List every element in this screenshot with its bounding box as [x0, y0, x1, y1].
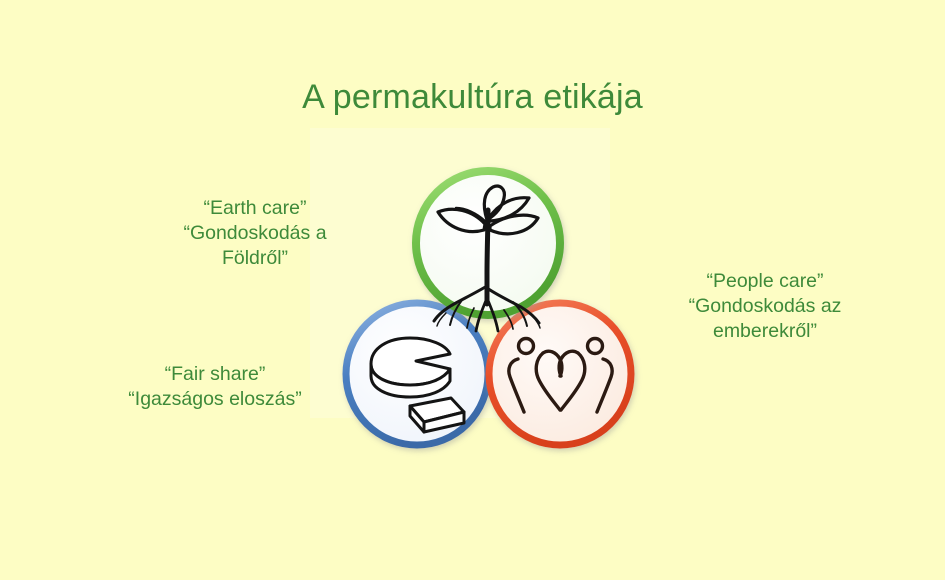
permaculture-ethics-venn-diagram: [338, 158, 644, 458]
label-people-care: “People care” “Gondoskodás az emberekről…: [625, 269, 905, 344]
slide-canvas: A permakultúra etikája “Earth care” “Gon…: [0, 0, 945, 580]
label-fair-share: “Fair share” “Igazságos eloszás”: [75, 362, 355, 412]
label-fair-share-line2: “Igazságos eloszás”: [75, 387, 355, 412]
label-people-care-line2: “Gondoskodás az: [625, 294, 905, 319]
label-people-care-line1: “People care”: [625, 269, 905, 294]
label-fair-share-line1: “Fair share”: [75, 362, 355, 387]
page-title: A permakultúra etikája: [0, 78, 945, 117]
label-people-care-line3: emberekről”: [625, 319, 905, 344]
